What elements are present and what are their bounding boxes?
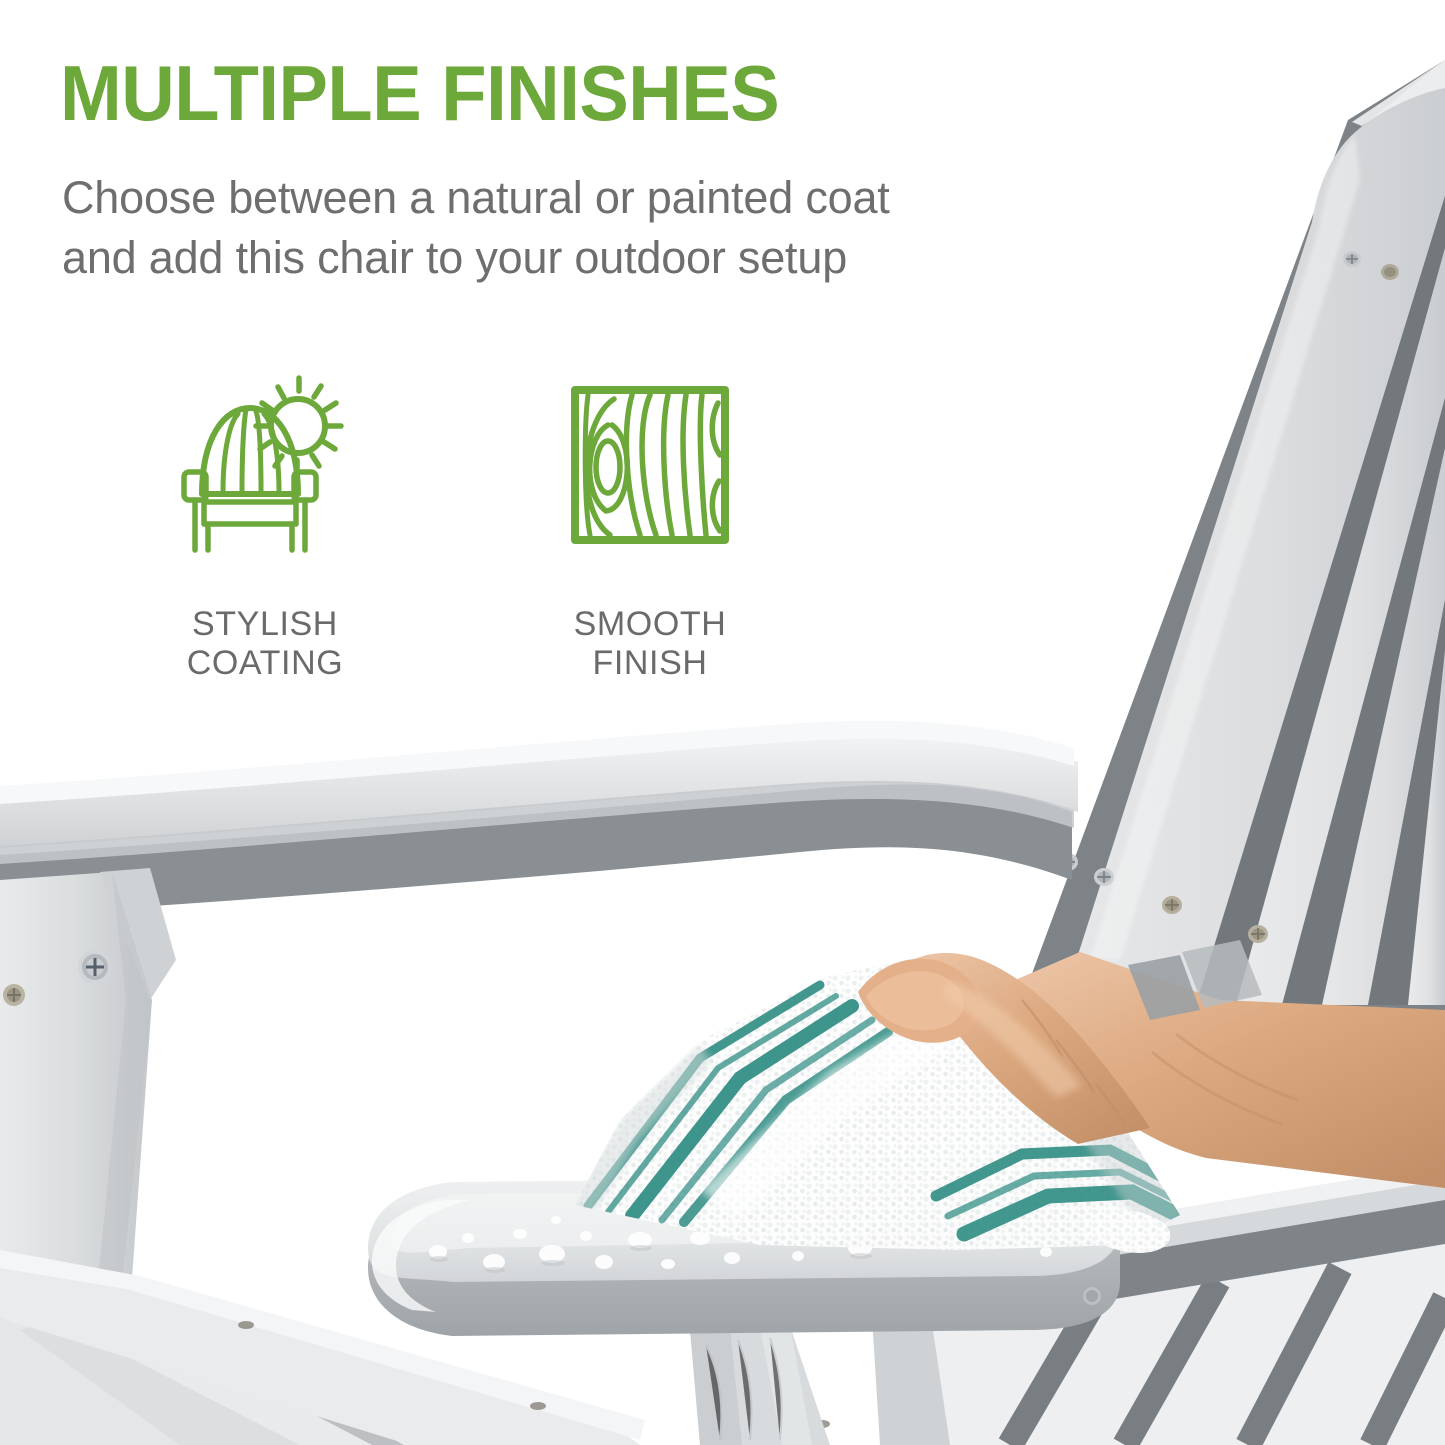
subtitle: Choose between a natural or painted coat… <box>62 168 1092 288</box>
product-feature-image: MULTIPLE FINISHES Choose between a natur… <box>0 0 1445 1445</box>
feature-label: STYLISH COATING <box>187 605 344 683</box>
adirondack-chair-sun-icon <box>178 372 353 557</box>
wood-grain-square-icon <box>570 372 730 557</box>
feature-stylish-coating: STYLISH COATING <box>145 372 385 683</box>
subtitle-line-1: Choose between a natural or painted coat <box>62 172 890 223</box>
feature-list: STYLISH COATING <box>145 372 845 683</box>
subtitle-line-2: and add this chair to your outdoor setup <box>62 228 1092 288</box>
feature-label: SMOOTH FINISH <box>574 605 727 683</box>
feature-smooth-finish: SMOOTH FINISH <box>530 372 770 683</box>
page-title: MULTIPLE FINISHES <box>60 53 779 133</box>
